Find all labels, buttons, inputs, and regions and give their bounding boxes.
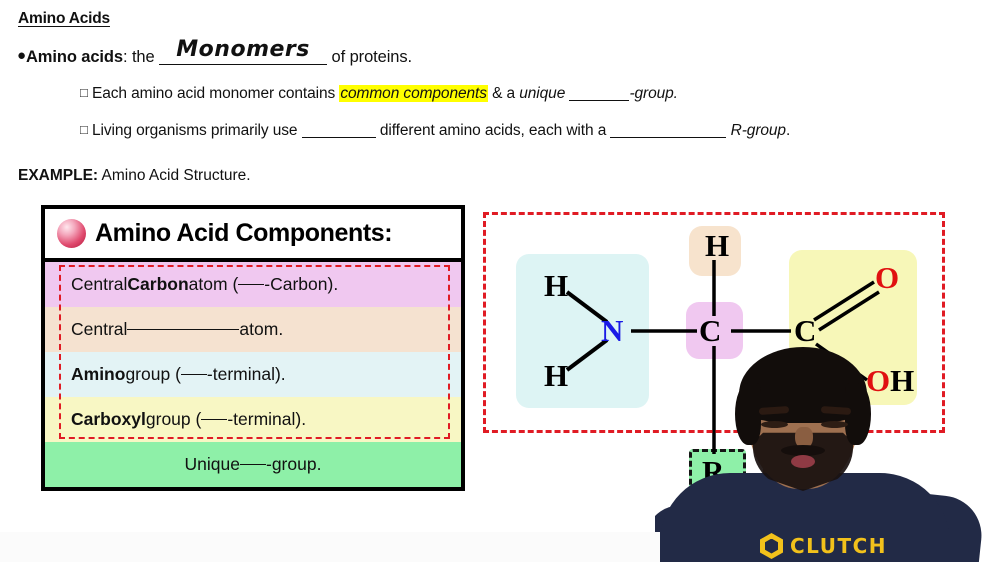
example-label-bold: EXAMPLE:: [18, 167, 98, 184]
row-1-end: -Carbon).: [264, 274, 338, 295]
presenter-mouth: [791, 455, 815, 468]
row-2-pre: Central: [71, 319, 127, 340]
table-row-carboxyl-group: Carboxyl group (-terminal).: [45, 397, 461, 442]
bullet-1-tail: of proteins.: [327, 48, 412, 66]
table-row-amino-group: Amino group (-terminal).: [45, 352, 461, 397]
slide-canvas: Amino Acids ●Amino acids: the Monomers o…: [0, 0, 1000, 562]
bullet-2-tail: -group.: [629, 85, 677, 102]
row-4-bold: Carboxyl: [71, 409, 146, 430]
table-row-central-atom: Central atom.: [45, 307, 461, 352]
table-row-central-carbon: Central Carbon atom (-Carbon).: [45, 262, 461, 307]
row-1-post: atom (: [189, 274, 239, 295]
row-4-post: group (: [146, 409, 201, 430]
bottom-band: [0, 532, 660, 562]
table-header-title: Amino Acid Components:: [95, 219, 392, 248]
presenter-hair-left: [735, 383, 761, 445]
table-header: Amino Acid Components:: [45, 209, 461, 262]
row-2-end: atom.: [239, 319, 283, 340]
bullet-marker-square-2: □: [80, 122, 88, 137]
red-sphere-icon: [57, 219, 86, 248]
row-3-post: group (: [125, 364, 180, 385]
row-3-blank: [181, 374, 207, 375]
example-label: EXAMPLE: Amino Acid Structure.: [18, 167, 251, 185]
handwritten-answer: Monomers: [176, 37, 310, 62]
presenter-eye-right: [821, 421, 848, 428]
answer-blank-adjective: [610, 137, 726, 138]
row-4-end: -terminal).: [227, 409, 306, 430]
bullet-marker-square-1: □: [80, 85, 88, 100]
table-rows: Central Carbon atom (-Carbon). Central a…: [45, 262, 461, 487]
bullet-1-after-term: : the: [123, 48, 159, 66]
row-3-bold: Amino: [71, 364, 125, 385]
row-1-pre: Central: [71, 274, 127, 295]
bullet-3-tail-italic: R-group: [731, 122, 786, 139]
presenter-eye-left: [761, 421, 788, 428]
row-5-blank: [240, 464, 266, 465]
bullet-marker-dot: ●: [17, 47, 26, 64]
page-title: Amino Acids: [18, 10, 110, 28]
hexagon-logo-icon: [760, 533, 783, 559]
bullet-line-2: □ Each amino acid monomer contains commo…: [80, 85, 678, 103]
row-2-blank: [127, 329, 239, 330]
bullet-2-mid: & a: [488, 85, 519, 102]
answer-blank-monomers: Monomers: [159, 64, 327, 65]
presenter-video-overlay: CLUTCH: [655, 345, 1000, 562]
bullet-1-term: Amino acids: [26, 48, 123, 66]
amino-acid-components-table: Amino Acid Components: Central Carbon at…: [41, 205, 465, 491]
row-5-end: -group.: [266, 454, 321, 475]
bullet-2-pre: Each amino acid monomer contains: [88, 85, 340, 102]
bullet-3-tail: .: [786, 122, 790, 139]
highlight-common-components: common components: [339, 85, 487, 102]
clutch-brand-text: CLUTCH: [790, 534, 887, 558]
row-3-end: -terminal).: [207, 364, 286, 385]
answer-blank-r: [569, 100, 629, 101]
bullet-line-1: ●Amino acids: the Monomers of proteins.: [17, 47, 412, 67]
row-1-blank: [238, 284, 264, 285]
row-4-blank: [201, 419, 227, 420]
row-1-bold: Carbon: [127, 274, 188, 295]
bullet-3-pre: Living organisms primarily use: [88, 122, 302, 139]
table-row-unique-r-group: Unique -group.: [45, 442, 461, 487]
row-5-pre: Unique: [185, 454, 240, 475]
bullet-2-italic-word: unique: [519, 85, 565, 102]
answer-blank-count: [302, 137, 376, 138]
example-label-text: Amino Acid Structure.: [98, 167, 251, 184]
bullet-3-mid: different amino acids, each with a: [376, 122, 611, 139]
clutch-brand-logo: CLUTCH: [760, 533, 887, 559]
bullet-line-3: □ Living organisms primarily use differe…: [80, 122, 790, 140]
